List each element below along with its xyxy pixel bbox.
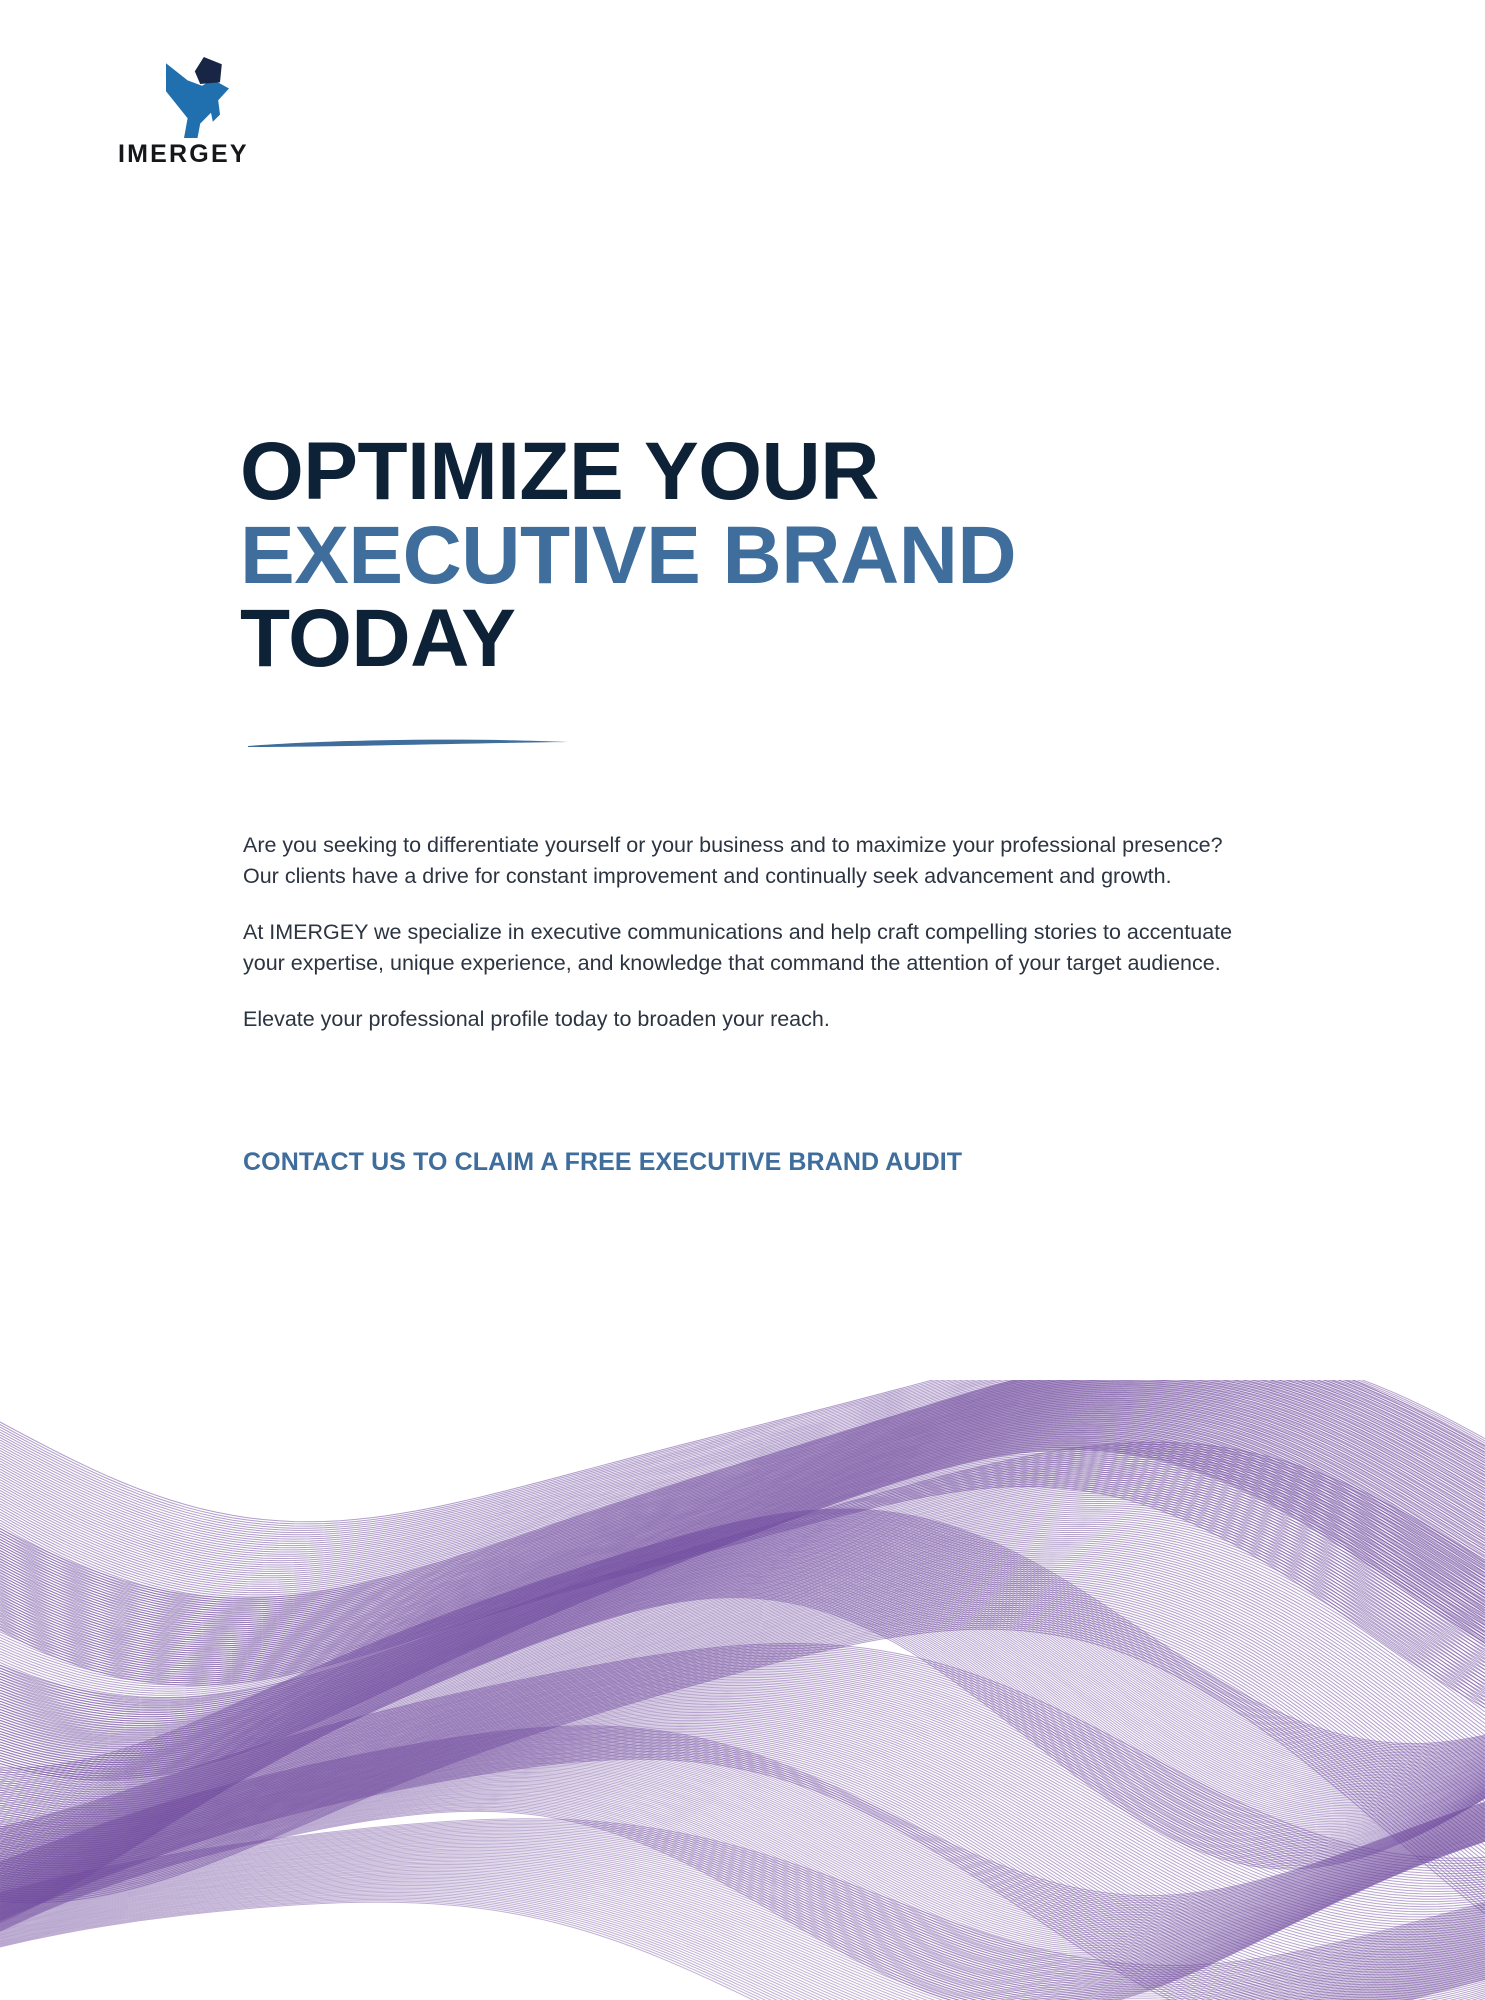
wave-line <box>0 1444 1485 1638</box>
wave-line <box>0 1380 1485 1613</box>
wave-line <box>0 1807 1485 2000</box>
wave-line <box>0 1380 1485 1563</box>
wave-line <box>0 1528 1485 1792</box>
wave-line <box>0 1856 1485 2000</box>
wave-line <box>0 1519 1485 1789</box>
wave-line <box>0 1528 1485 1808</box>
wave-line <box>0 1555 1485 1857</box>
wave-line <box>0 1398 1485 1687</box>
wave-line <box>0 1820 1485 1968</box>
wave-line <box>0 1825 1485 1975</box>
wave-line <box>0 1623 1485 1902</box>
wave-line <box>0 1380 1485 1609</box>
wave-line <box>0 1719 1485 1978</box>
wave-line <box>0 1757 1485 1939</box>
wave-line <box>0 1417 1485 1608</box>
wave-line <box>0 1617 1485 1889</box>
wave-line <box>0 1873 1485 2000</box>
wave-line <box>0 1399 1485 1689</box>
wave-line <box>0 1512 1485 1775</box>
wave-line <box>0 1728 1485 1992</box>
wave-line <box>0 1412 1485 1712</box>
wave-line <box>0 1464 1485 1722</box>
wave-line <box>0 1613 1485 1885</box>
wave-line <box>0 1397 1485 1685</box>
wave-line <box>0 1438 1485 1631</box>
wave-line <box>0 1524 1485 1799</box>
wave-line <box>0 1779 1485 1969</box>
wave-line <box>0 1453 1485 1710</box>
wave-line <box>0 1593 1485 1863</box>
wave-line <box>0 1730 1485 1995</box>
wave-line <box>0 1741 1485 2000</box>
wave-line <box>0 1850 1485 2000</box>
wave-line <box>0 1470 1485 1728</box>
wave-line <box>0 1798 1485 1995</box>
wave-line <box>0 1752 1485 1932</box>
wave-line <box>0 1673 1485 1905</box>
wave-line <box>0 1846 1485 2000</box>
wave-line <box>0 1429 1485 1743</box>
wave-line <box>0 1770 1485 1956</box>
wave-line <box>0 1380 1485 1537</box>
wave-line <box>0 1390 1485 1672</box>
wave-line <box>0 1723 1485 1985</box>
wave-line <box>0 1587 1485 1856</box>
wave-line <box>0 1544 1485 1838</box>
body-paragraph-3: Elevate your professional profile today … <box>243 1004 1253 1035</box>
wave-line <box>0 1386 1485 1665</box>
wave-line <box>0 1410 1485 1600</box>
wave-line <box>0 1422 1485 1730</box>
wave-line <box>0 1416 1485 1719</box>
wave-line <box>0 1516 1485 1779</box>
wave-line <box>0 1518 1485 1781</box>
wave-line <box>0 1686 1485 1925</box>
wave-line <box>0 1577 1485 1845</box>
wave-line <box>0 1518 1485 1787</box>
wave-line <box>0 1717 1485 1975</box>
wave-line <box>0 1380 1485 1604</box>
wave-line <box>0 1380 1485 1628</box>
wave-line <box>0 1705 1485 1955</box>
wave-line <box>0 1587 1485 1908</box>
wave-line <box>0 1890 1485 2000</box>
wave-line <box>0 1509 1485 1768</box>
wave-line <box>0 1765 1485 1950</box>
wave-line <box>0 1393 1485 1581</box>
headline-line-2: EXECUTIVE BRAND <box>240 514 1340 598</box>
wave-line <box>0 1522 1485 1795</box>
wave-line <box>0 1775 1485 1963</box>
wave-line <box>0 1440 1485 1763</box>
wave-line <box>0 1380 1485 1647</box>
wave-line <box>0 1389 1485 1670</box>
wave-line <box>0 1479 1485 1694</box>
wave-line <box>0 1842 1485 2000</box>
wave-line <box>0 1380 1485 1619</box>
wave-line <box>0 1548 1485 1845</box>
wave-line <box>0 1826 1485 1977</box>
wave-line <box>0 1405 1485 1700</box>
wave-line <box>0 1732 1485 1904</box>
wave-line <box>0 1409 1485 1707</box>
wave-line <box>0 1787 1485 1979</box>
wave-line <box>0 1434 1485 1626</box>
wave-line <box>0 1788 1485 1981</box>
wave-line <box>0 1564 1485 1873</box>
wave-line <box>0 1809 1485 2000</box>
wave-line <box>0 1499 1485 1760</box>
wave-line <box>0 1722 1485 1983</box>
wave-line <box>0 1746 1485 1923</box>
wave-line <box>0 1503 1485 1764</box>
wave-line <box>0 1785 1485 1977</box>
brand-wordmark: IMERGEY <box>118 140 288 169</box>
wave-line <box>0 1380 1485 1602</box>
brand-logo: IMERGEY <box>118 48 288 168</box>
wave-line <box>0 1398 1485 1586</box>
wave-line <box>0 1731 1485 1997</box>
wave-line <box>0 1652 1485 1871</box>
wave-line <box>0 1565 1485 1874</box>
wave-line <box>0 1901 1485 2000</box>
wave-line <box>0 1380 1485 1644</box>
wave-line <box>0 1679 1485 1914</box>
wave-line <box>0 1493 1485 1753</box>
wave-line <box>0 1576 1485 1892</box>
wave-line <box>0 1872 1485 2000</box>
wave-line <box>0 1380 1485 1621</box>
wave-line <box>0 1645 1485 1861</box>
wave-line <box>0 1753 1485 1933</box>
wave-line <box>0 1381 1485 1567</box>
wave-line <box>0 1877 1485 2000</box>
wave-line <box>0 1477 1485 1690</box>
wave-line <box>0 1459 1485 1657</box>
wave-line <box>0 1706 1485 1957</box>
wave-line <box>0 1380 1485 1653</box>
wave-line <box>0 1579 1485 1896</box>
wave-line <box>0 1829 1485 1981</box>
wave-line <box>0 1865 1485 2000</box>
wave-line <box>0 1442 1485 1635</box>
wave-line <box>0 1457 1485 1714</box>
wave-line <box>0 1822 1485 1970</box>
wave-line <box>0 1597 1485 1867</box>
wave-line <box>0 1483 1485 1701</box>
wave-line <box>0 1570 1485 1882</box>
wave-line <box>0 1848 1485 2000</box>
wave-line <box>0 1595 1485 1919</box>
wave-line <box>0 1402 1485 1591</box>
wave-line <box>0 1883 1485 2000</box>
wave-line <box>0 1737 1485 1911</box>
wave-line <box>0 1650 1485 1868</box>
wave-line <box>0 1385 1485 1572</box>
wave-line <box>0 1481 1485 1698</box>
wave-line <box>0 1435 1485 1754</box>
wave-line <box>0 1423 1485 1732</box>
wave-line <box>0 1447 1485 1641</box>
wave-line <box>0 1508 1485 1770</box>
wave-line <box>0 1486 1485 1707</box>
wave-line <box>0 1380 1485 1598</box>
wave-line <box>0 1380 1485 1600</box>
body-paragraph-2: At IMERGEY we specialize in executive co… <box>243 917 1253 978</box>
wave-line <box>0 1459 1485 1716</box>
wave-line <box>0 1475 1485 1687</box>
wave-line <box>0 1838 1485 1994</box>
wave-line <box>0 1429 1485 1621</box>
wave-line <box>0 1383 1485 1569</box>
wave-line <box>0 1867 1485 2000</box>
wave-line <box>0 1461 1485 1660</box>
wave-line <box>0 1743 1485 1919</box>
wave-line <box>0 1593 1485 1917</box>
wave-line <box>0 1380 1485 1556</box>
wave-line <box>0 1866 1485 2000</box>
wave-line <box>0 1466 1485 1670</box>
wave-line <box>0 1794 1485 1989</box>
wave-line <box>0 1562 1485 1869</box>
wave-line <box>0 1658 1485 1881</box>
wave-line <box>0 1489 1485 1749</box>
wave-line <box>0 1653 1485 1873</box>
wave-line <box>0 1436 1485 1756</box>
wave-line <box>0 1887 1485 2000</box>
wave-line <box>0 1510 1485 1770</box>
wave-line <box>0 1512 1485 1774</box>
wave-line <box>0 1453 1485 1648</box>
wave-line <box>0 1547 1485 1812</box>
wave-line <box>0 1442 1485 1698</box>
wave-line <box>0 1835 1485 1990</box>
wave-line <box>0 1884 1485 2000</box>
wave-line <box>0 1450 1485 1780</box>
wave-line <box>0 1551 1485 1851</box>
page-title: OPTIMIZE YOUR EXECUTIVE BRAND TODAY <box>240 430 1340 681</box>
wave-line <box>0 1550 1485 1849</box>
wave-line <box>0 1771 1485 1958</box>
wave-line <box>0 1380 1485 1524</box>
wave-line <box>0 1836 1485 1992</box>
wave-line <box>0 1380 1485 1559</box>
wave-line <box>0 1870 1485 2000</box>
wave-line <box>0 1380 1485 1636</box>
wave-line <box>0 1563 1485 1830</box>
wave-line <box>0 1470 1485 1677</box>
wave-line <box>0 1483 1485 1742</box>
wave-line <box>0 1445 1485 1771</box>
wave-line <box>0 1748 1485 2000</box>
wave-line <box>0 1583 1485 1852</box>
wave-line <box>0 1750 1485 1929</box>
wave-line <box>0 1436 1485 1629</box>
wave-line <box>0 1758 1485 1940</box>
wave-line <box>0 1657 1485 1879</box>
wave-line <box>0 1781 1485 1972</box>
wave-line <box>0 1578 1485 1895</box>
wave-line <box>0 1406 1485 1702</box>
wave-line <box>0 1676 1485 1909</box>
wave-line <box>0 1605 1485 1876</box>
wave-line <box>0 1462 1485 1663</box>
wave-line <box>0 1425 1485 1616</box>
wave-line <box>0 1380 1485 1548</box>
wave-line <box>0 1412 1485 1602</box>
wave-line <box>0 1589 1485 1911</box>
wave-line <box>0 1568 1485 1880</box>
wave-line <box>0 1609 1485 1881</box>
wave-line <box>0 1790 1485 1984</box>
body-copy: Are you seeking to differentiate yoursel… <box>243 830 1253 1035</box>
wave-line <box>0 1574 1485 1889</box>
wave-line <box>0 1455 1485 1712</box>
wave-line <box>0 1756 1485 2000</box>
wave-line <box>0 1535 1485 1821</box>
wave-line <box>0 1665 1485 1892</box>
wave-line <box>0 1525 1485 1801</box>
wave-line <box>0 1695 1485 1940</box>
wave-line <box>0 1744 1485 2000</box>
wave-line <box>0 1380 1485 1530</box>
wave-line <box>0 1403 1485 1696</box>
wave-line <box>0 1687 1485 1927</box>
wave-line <box>0 1735 1485 1908</box>
wave-line <box>0 1627 1485 1910</box>
wave-line <box>0 1711 1485 1965</box>
wave-line <box>0 1700 1485 1947</box>
wave-line <box>0 1760 1485 1943</box>
wave-line <box>0 1655 1485 1876</box>
wave-line <box>0 1543 1485 1808</box>
wave-line <box>0 1522 1485 1785</box>
wave-line <box>0 1407 1485 1704</box>
wave-line <box>0 1380 1485 1543</box>
wave-line <box>0 1703 1485 1952</box>
wave-line <box>0 1410 1485 1709</box>
wave-line <box>0 1464 1485 1666</box>
wave-line <box>0 1387 1485 1574</box>
wave-line <box>0 1893 1485 2000</box>
wave-line <box>0 1468 1485 1673</box>
wave-line <box>0 1797 1485 1993</box>
wave-line <box>0 1385 1485 1663</box>
wave-line <box>0 1599 1485 1870</box>
wave-line <box>0 1439 1485 1761</box>
wave-line <box>0 1755 1485 1936</box>
wave-line <box>0 1607 1485 1878</box>
wave-line <box>0 1810 1485 2000</box>
wave-line <box>0 1394 1485 1680</box>
wave-line <box>0 1832 1485 1985</box>
wave-line <box>0 1740 1485 1915</box>
wave-line <box>0 1566 1485 1876</box>
wave-line <box>0 1400 1485 1691</box>
wave-line <box>0 1485 1485 1745</box>
headline-line-3: TODAY <box>240 597 1340 681</box>
wave-line <box>0 1863 1485 2000</box>
wave-line <box>0 1899 1485 2000</box>
wave-line <box>0 1755 1485 2000</box>
wave-line <box>0 1766 1485 1951</box>
wave-line <box>0 1669 1485 1899</box>
wave-line <box>0 1647 1485 1864</box>
wave-line <box>0 1501 1485 1762</box>
wave-line <box>0 1761 1485 1944</box>
wave-line <box>0 1902 1485 2000</box>
wave-line <box>0 1660 1485 1884</box>
wave-line <box>0 1555 1485 1821</box>
wave-line <box>0 1668 1485 1897</box>
wave-line <box>0 1388 1485 1668</box>
wave-line <box>0 1759 1485 2000</box>
wave-line <box>0 1767 1485 1952</box>
wave-line <box>0 1558 1485 1863</box>
wave-line <box>0 1380 1485 1565</box>
wave-line <box>0 1380 1485 1526</box>
wave-line <box>0 1573 1485 1887</box>
wave-line <box>0 1539 1485 1829</box>
wave-line <box>0 1526 1485 1804</box>
wave-line <box>0 1427 1485 1739</box>
wave-line <box>0 1880 1485 2000</box>
wave-line <box>0 1536 1485 1823</box>
wave-line <box>0 1497 1485 1758</box>
wave-line <box>0 1532 1485 1815</box>
wave-line <box>0 1383 1485 1659</box>
wave-line <box>0 1478 1485 1737</box>
wave-line <box>0 1693 1485 1937</box>
wave-line <box>0 1514 1485 1776</box>
wave-line <box>0 1423 1485 1614</box>
cta-contact-us[interactable]: CONTACT US TO CLAIM A FREE EXECUTIVE BRA… <box>243 1148 962 1177</box>
wave-line <box>0 1530 1485 1812</box>
wave-line <box>0 1802 1485 2000</box>
purple-flowing-wave-graphic <box>0 1380 1485 2000</box>
wave-line <box>0 1725 1485 1987</box>
wave-line <box>0 1510 1485 1772</box>
wave-line <box>0 1585 1485 1854</box>
wave-line <box>0 1750 1485 2000</box>
wave-line <box>0 1569 1485 1837</box>
wave-line <box>0 1734 1485 2000</box>
wave-line <box>0 1589 1485 1859</box>
wave-line <box>0 1527 1485 1806</box>
wave-line <box>0 1437 1485 1758</box>
wave-line <box>0 1780 1485 1970</box>
wave-line <box>0 1545 1485 1810</box>
wave-line <box>0 1380 1485 1535</box>
wave-line <box>0 1380 1485 1625</box>
wave-line <box>0 1402 1485 1694</box>
wave-line <box>0 1457 1485 1653</box>
wave-line <box>0 1380 1485 1606</box>
wave-line <box>0 1516 1485 1783</box>
wave-line <box>0 1380 1485 1640</box>
wave-line <box>0 1823 1485 1972</box>
wave-line <box>0 1805 1485 2000</box>
wave-line <box>0 1552 1485 1853</box>
wave-line <box>0 1591 1485 1861</box>
wave-line <box>0 1582 1485 1901</box>
wave-line <box>0 1596 1485 1921</box>
wave-line <box>0 1417 1485 1721</box>
wave-line <box>0 1446 1485 1773</box>
wave-line <box>0 1545 1485 1840</box>
wave-line <box>0 1391 1485 1578</box>
